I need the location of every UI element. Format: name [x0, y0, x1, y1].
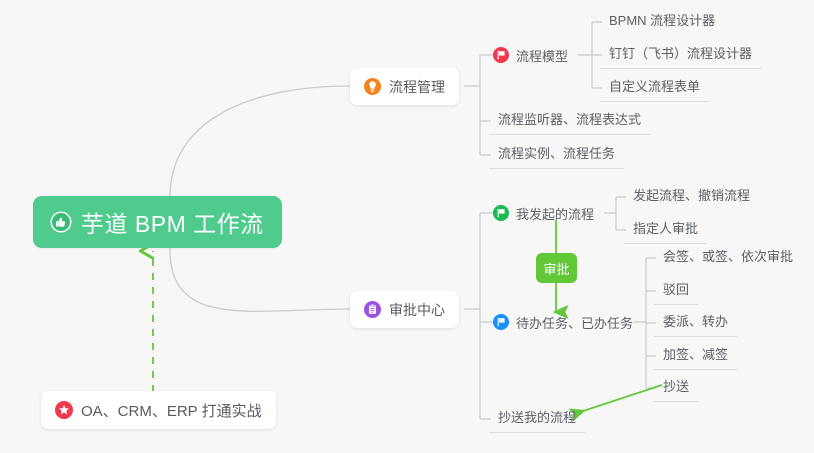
root-label: 芋道 BPM 工作流 — [81, 205, 264, 239]
flag-icon — [493, 47, 509, 63]
connector-root-to-approval-center — [170, 246, 350, 311]
thumbs-up-icon — [50, 211, 72, 233]
node-todo-done-tasks-label: 待办任务、已办任务 — [516, 313, 633, 332]
node-process-management-label: 流程管理 — [389, 77, 445, 97]
approval-badge-label: 审批 — [543, 259, 569, 278]
leaf-process-listener-expression[interactable]: 流程监听器、流程表达式 — [489, 110, 650, 135]
leaf-add-remove-sign[interactable]: 加签、减签 — [654, 345, 737, 370]
leaf-carbon-copy[interactable]: 抄送 — [654, 377, 698, 402]
mindmap-canvas: 芋道 BPM 工作流 流程管理 审批中心 — [0, 0, 814, 453]
connector-root-to-process-management — [170, 86, 350, 200]
leaf-custom-process-form[interactable]: 自定义流程表单 — [600, 77, 709, 102]
node-process-model-label: 流程模型 — [516, 46, 568, 65]
leaf-countersign-orsign-sequential[interactable]: 会签、或签、依次审批 — [654, 247, 802, 272]
leaf-start-cancel-process[interactable]: 发起流程、撤销流程 — [624, 186, 759, 211]
node-process-model[interactable]: 流程模型 — [491, 41, 574, 69]
integration-card-label: OA、CRM、ERP 打通实战 — [81, 400, 262, 421]
root-node[interactable]: 芋道 BPM 工作流 — [33, 196, 282, 248]
node-approval-center[interactable]: 审批中心 — [350, 291, 459, 328]
leaf-process-instance-task[interactable]: 流程实例、流程任务 — [489, 144, 624, 169]
flag-icon — [493, 205, 509, 221]
node-my-started-processes[interactable]: 我发起的流程 — [491, 199, 600, 227]
node-todo-done-tasks[interactable]: 待办任务、已办任务 — [491, 308, 639, 336]
leaf-cc-to-me-processes[interactable]: 抄送我的流程 — [489, 408, 585, 433]
leaf-reject[interactable]: 驳回 — [654, 280, 698, 305]
approval-badge[interactable]: 审批 — [536, 253, 577, 283]
lightbulb-icon — [364, 78, 381, 95]
star-icon — [55, 401, 73, 419]
node-process-management[interactable]: 流程管理 — [350, 68, 459, 105]
green-arrow-cc-to-my-cc — [574, 385, 662, 414]
flag-icon — [493, 314, 509, 330]
node-approval-center-label: 审批中心 — [389, 300, 445, 320]
integration-card[interactable]: OA、CRM、ERP 打通实战 — [41, 391, 276, 429]
clipboard-icon — [364, 301, 381, 318]
leaf-dingtalk-feishu-designer[interactable]: 钉钉（飞书）流程设计器 — [600, 44, 761, 69]
leaf-assignee-approval[interactable]: 指定人审批 — [624, 219, 707, 244]
leaf-delegate-transfer[interactable]: 委派、转办 — [654, 312, 737, 337]
leaf-bpmn-designer[interactable]: BPMN 流程设计器 — [600, 11, 724, 36]
node-my-started-processes-label: 我发起的流程 — [516, 204, 594, 223]
